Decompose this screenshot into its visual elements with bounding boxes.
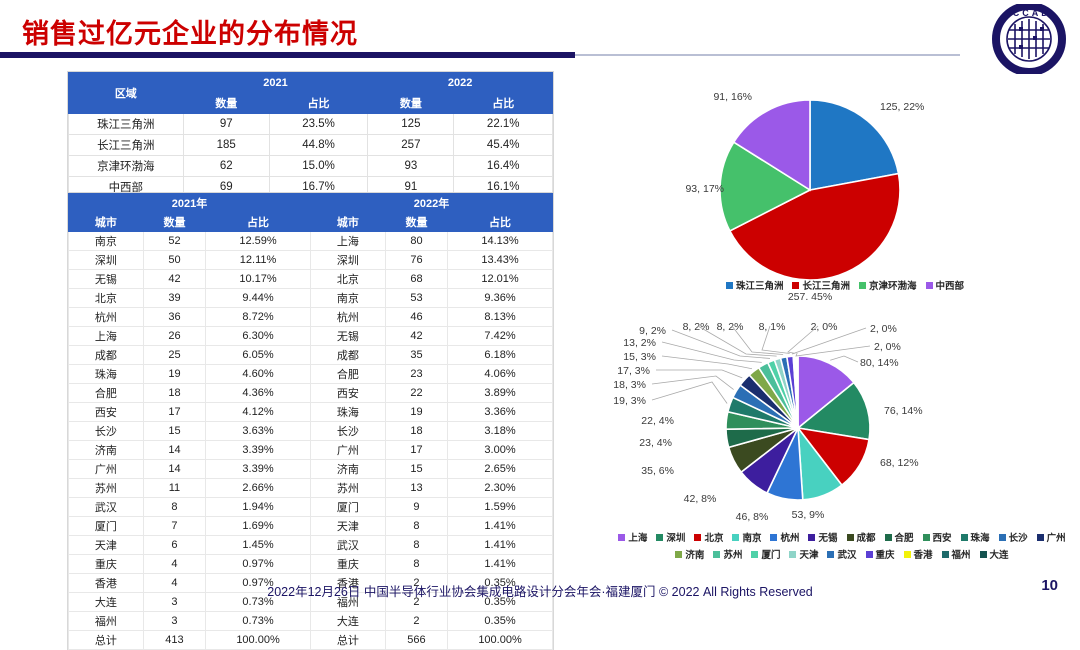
cell-share-2022: 6.18%	[448, 346, 553, 365]
cell-city-2021: 天津	[69, 536, 144, 555]
cell-share-2021: 3.39%	[206, 441, 311, 460]
cell-city-2022: 上海	[310, 232, 385, 251]
legend-label: 济南	[685, 547, 704, 561]
cell-count-2021: 39	[143, 289, 205, 308]
cell-p2022: 16.4%	[454, 156, 553, 177]
legend-swatch-icon	[866, 551, 873, 558]
legend-swatch-icon	[961, 534, 968, 541]
cell-region: 珠江三角洲	[69, 114, 184, 135]
region-sub-count-2021: 数量	[183, 93, 269, 114]
title-rule	[0, 52, 575, 58]
cell-share-2021: 0.73%	[206, 612, 311, 631]
cell-region: 长江三角洲	[69, 135, 184, 156]
pie-data-label: 68, 12%	[880, 457, 919, 469]
cell-n2022: 93	[368, 156, 454, 177]
legend-swatch-icon	[732, 534, 739, 541]
cell-count-2021: 18	[143, 384, 205, 403]
legend-item[interactable]: 成都	[847, 530, 876, 544]
cell-count-2022: 76	[385, 251, 447, 270]
legend-label: 成都	[857, 530, 876, 544]
cell-share-2021: 100.00%	[206, 631, 311, 650]
cell-city-2021: 广州	[69, 460, 144, 479]
legend-item[interactable]: 西安	[923, 530, 952, 544]
cell-p2021: 15.0%	[269, 156, 368, 177]
cell-city-2022: 苏州	[310, 479, 385, 498]
cell-share-2021: 12.59%	[206, 232, 311, 251]
legend-label: 无锡	[818, 530, 837, 544]
legend-swatch-icon	[999, 534, 1006, 541]
cell-share-2022: 3.00%	[448, 441, 553, 460]
cell-city-2022: 深圳	[310, 251, 385, 270]
cell-city-2021: 长沙	[69, 422, 144, 441]
pie-label-leader	[796, 346, 870, 356]
legend-label: 珠江三角洲	[736, 278, 784, 292]
pie-data-label: 53, 9%	[792, 509, 825, 521]
cell-share-2021: 0.97%	[206, 555, 311, 574]
legend-item[interactable]: 北京	[694, 530, 723, 544]
page-title: 销售过亿元企业的分布情况	[22, 12, 358, 51]
table-row: 无锡4210.17%北京6812.01%	[69, 270, 553, 289]
city-col-city-2021: 城市	[69, 213, 144, 232]
legend-item[interactable]: 上海	[618, 530, 647, 544]
pie-data-label: 9, 2%	[639, 325, 666, 337]
legend-swatch-icon	[942, 551, 949, 558]
legend-item[interactable]: 深圳	[656, 530, 685, 544]
legend-item[interactable]: 厦门	[751, 547, 780, 561]
cell-share-2021: 10.17%	[206, 270, 311, 289]
legend-item[interactable]: 中西部	[926, 278, 965, 292]
legend-item[interactable]: 长江三角洲	[792, 278, 850, 292]
table-row: 西安174.12%珠海193.36%	[69, 403, 553, 422]
pie-data-label: 19, 3%	[613, 395, 646, 407]
legend-swatch-icon	[726, 282, 733, 289]
cell-city-2021: 北京	[69, 289, 144, 308]
cell-share-2022: 100.00%	[448, 631, 553, 650]
cell-n2022: 125	[368, 114, 454, 135]
table-row: 上海266.30%无锡427.42%	[69, 327, 553, 346]
cell-city-2021: 南京	[69, 232, 144, 251]
table-row: 广州143.39%济南152.65%	[69, 460, 553, 479]
region-header-2022: 2022	[368, 73, 553, 93]
legend-swatch-icon	[859, 282, 866, 289]
region-header-2021: 2021	[183, 73, 368, 93]
logo-text: ICCAD	[1007, 8, 1051, 18]
cell-count-2021: 36	[143, 308, 205, 327]
legend-swatch-icon	[885, 534, 892, 541]
cell-city-2022: 大连	[310, 612, 385, 631]
legend-item[interactable]: 长沙	[999, 530, 1028, 544]
city-pie-chart: 80, 14%76, 14%68, 12%53, 9%46, 8%42, 8%3…	[612, 318, 1074, 534]
legend-item[interactable]: 珠江三角洲	[726, 278, 784, 292]
cell-count-2022: 15	[385, 460, 447, 479]
legend-item[interactable]: 武汉	[827, 547, 856, 561]
legend-label: 天津	[799, 547, 818, 561]
cell-p2022: 22.1%	[454, 114, 553, 135]
legend-label: 福州	[952, 547, 971, 561]
cell-count-2022: 17	[385, 441, 447, 460]
legend-label: 苏州	[723, 547, 742, 561]
legend-swatch-icon	[792, 282, 799, 289]
table-row: 长江三角洲18544.8%25745.4%	[69, 135, 553, 156]
cell-city-2022: 济南	[310, 460, 385, 479]
cell-count-2022: 42	[385, 327, 447, 346]
cell-p2021: 44.8%	[269, 135, 368, 156]
cell-count-2021: 7	[143, 517, 205, 536]
legend-label: 上海	[628, 530, 647, 544]
cell-share-2021: 8.72%	[206, 308, 311, 327]
legend-item[interactable]: 天津	[789, 547, 818, 561]
cell-count-2022: 68	[385, 270, 447, 289]
region-sub-share-2021: 占比	[269, 93, 368, 114]
table-row: 重庆40.97%重庆81.41%	[69, 555, 553, 574]
legend-label: 中西部	[936, 278, 965, 292]
page-number: 10	[1041, 577, 1058, 594]
cell-city-2022: 杭州	[310, 308, 385, 327]
city-col-share-2021: 占比	[206, 213, 311, 232]
legend-swatch-icon	[808, 534, 815, 541]
cell-n2021: 62	[183, 156, 269, 177]
cell-p2022: 45.4%	[454, 135, 553, 156]
cell-city-2021: 厦门	[69, 517, 144, 536]
pie-data-label: 8, 2%	[683, 321, 710, 333]
city-pie-legend: 上海深圳北京南京杭州无锡成都合肥西安珠海长沙广州济南苏州厦门天津武汉重庆香港福州…	[614, 530, 1070, 561]
table-row: 苏州112.66%苏州132.30%	[69, 479, 553, 498]
city-col-count-2021: 数量	[143, 213, 205, 232]
pie-data-label: 42, 8%	[684, 493, 717, 505]
cell-count-2022: 2	[385, 612, 447, 631]
cell-share-2022: 2.30%	[448, 479, 553, 498]
cell-share-2022: 2.65%	[448, 460, 553, 479]
legend-item[interactable]: 苏州	[713, 547, 742, 561]
cell-share-2022: 3.36%	[448, 403, 553, 422]
cell-count-2021: 14	[143, 460, 205, 479]
cell-count-2022: 8	[385, 536, 447, 555]
cell-city-2021: 总计	[69, 631, 144, 650]
legend-label: 大连	[990, 547, 1009, 561]
cell-count-2022: 35	[385, 346, 447, 365]
legend-swatch-icon	[926, 282, 933, 289]
table-row: 珠海194.60%合肥234.06%	[69, 365, 553, 384]
cell-share-2022: 3.18%	[448, 422, 553, 441]
legend-item[interactable]: 合肥	[885, 530, 914, 544]
cell-count-2022: 23	[385, 365, 447, 384]
cell-count-2021: 25	[143, 346, 205, 365]
pie-data-label: 2, 0%	[874, 341, 901, 353]
legend-label: 杭州	[780, 530, 799, 544]
pie-label-leader	[656, 370, 742, 378]
cell-count-2022: 8	[385, 517, 447, 536]
cell-p2021: 23.5%	[269, 114, 368, 135]
cell-city-2022: 无锡	[310, 327, 385, 346]
pie-data-label: 91, 16%	[713, 91, 752, 103]
legend-label: 合肥	[895, 530, 914, 544]
legend-swatch-icon	[789, 551, 796, 558]
cell-city-2022: 北京	[310, 270, 385, 289]
cell-city-2021: 深圳	[69, 251, 144, 270]
cell-count-2021: 3	[143, 612, 205, 631]
cell-count-2022: 566	[385, 631, 447, 650]
cell-share-2021: 6.30%	[206, 327, 311, 346]
cell-n2022: 257	[368, 135, 454, 156]
legend-item[interactable]: 大连	[980, 547, 1009, 561]
cell-share-2021: 2.66%	[206, 479, 311, 498]
cell-city-2021: 合肥	[69, 384, 144, 403]
cell-city-2022: 合肥	[310, 365, 385, 384]
cell-city-2022: 武汉	[310, 536, 385, 555]
table-row: 合肥184.36%西安223.89%	[69, 384, 553, 403]
legend-item[interactable]: 济南	[675, 547, 704, 561]
pie-data-label: 18, 3%	[613, 379, 646, 391]
footer-text: 2022年12月26日 中国半导体行业协会集成电路设计分会年会·福建厦门 © 2…	[0, 581, 1080, 600]
cell-n2021: 97	[183, 114, 269, 135]
pie-data-label: 2, 0%	[870, 323, 897, 335]
cell-count-2021: 4	[143, 555, 205, 574]
pie-data-label: 8, 2%	[717, 321, 744, 333]
legend-swatch-icon	[675, 551, 682, 558]
region-sub-share-2022: 占比	[454, 93, 553, 114]
cell-share-2021: 4.60%	[206, 365, 311, 384]
table-row: 武汉81.94%厦门91.59%	[69, 498, 553, 517]
pie-data-label: 46, 8%	[736, 511, 769, 523]
legend-item[interactable]: 重庆	[866, 547, 895, 561]
title-rule-thin	[575, 54, 960, 56]
legend-label: 长沙	[1009, 530, 1028, 544]
legend-swatch-icon	[980, 551, 987, 558]
pie-data-label: 17, 3%	[617, 365, 650, 377]
cell-count-2022: 22	[385, 384, 447, 403]
cell-city-2021: 苏州	[69, 479, 144, 498]
legend-label: 厦门	[761, 547, 780, 561]
cell-city-2022: 长沙	[310, 422, 385, 441]
cell-count-2021: 19	[143, 365, 205, 384]
cell-share-2022: 1.41%	[448, 555, 553, 574]
pie-data-label: 93, 17%	[685, 183, 724, 195]
table-row: 杭州368.72%杭州468.13%	[69, 308, 553, 327]
legend-swatch-icon	[618, 534, 625, 541]
legend-item[interactable]: 广州	[1037, 530, 1066, 544]
city-col-city-2022: 城市	[310, 213, 385, 232]
table-row: 长沙153.63%长沙183.18%	[69, 422, 553, 441]
cell-city-2021: 珠海	[69, 365, 144, 384]
cell-count-2021: 11	[143, 479, 205, 498]
legend-item[interactable]: 南京	[732, 530, 761, 544]
pie-data-label: 22, 4%	[641, 415, 674, 427]
cell-city-2021: 福州	[69, 612, 144, 631]
cell-count-2022: 80	[385, 232, 447, 251]
city-col-share-2022: 占比	[448, 213, 553, 232]
cell-city-2022: 西安	[310, 384, 385, 403]
table-row: 深圳5012.11%深圳7613.43%	[69, 251, 553, 270]
cell-share-2021: 1.94%	[206, 498, 311, 517]
cell-share-2021: 6.05%	[206, 346, 311, 365]
cell-count-2021: 42	[143, 270, 205, 289]
legend-swatch-icon	[751, 551, 758, 558]
legend-label: 北京	[704, 530, 723, 544]
legend-label: 长江三角洲	[802, 278, 850, 292]
cell-share-2022: 14.13%	[448, 232, 553, 251]
cell-share-2022: 1.41%	[448, 536, 553, 555]
cell-share-2022: 1.41%	[448, 517, 553, 536]
cell-city-2021: 重庆	[69, 555, 144, 574]
cell-count-2021: 26	[143, 327, 205, 346]
legend-label: 珠海	[971, 530, 990, 544]
table-row: 北京399.44%南京539.36%	[69, 289, 553, 308]
cell-count-2022: 8	[385, 555, 447, 574]
cell-city-2022: 厦门	[310, 498, 385, 517]
cell-share-2021: 1.45%	[206, 536, 311, 555]
cell-city-2021: 上海	[69, 327, 144, 346]
cell-city-2022: 天津	[310, 517, 385, 536]
legend-label: 深圳	[666, 530, 685, 544]
cell-count-2022: 46	[385, 308, 447, 327]
slide: 销售过亿元企业的分布情况 ICCAD	[0, 0, 1080, 607]
cell-count-2021: 8	[143, 498, 205, 517]
cell-share-2021: 9.44%	[206, 289, 311, 308]
cell-share-2022: 13.43%	[448, 251, 553, 270]
legend-swatch-icon	[770, 534, 777, 541]
pie-data-label: 2, 0%	[811, 321, 838, 333]
cell-share-2021: 4.36%	[206, 384, 311, 403]
region-pie-legend: 珠江三角洲长江三角洲京津环渤海中西部	[620, 278, 1070, 292]
legend-swatch-icon	[847, 534, 854, 541]
pie-data-label: 15, 3%	[623, 351, 656, 363]
table-row: 天津61.45%武汉81.41%	[69, 536, 553, 555]
legend-swatch-icon	[713, 551, 720, 558]
cell-city-2022: 重庆	[310, 555, 385, 574]
region-sub-count-2022: 数量	[368, 93, 454, 114]
legend-item[interactable]: 无锡	[808, 530, 837, 544]
legend-swatch-icon	[694, 534, 701, 541]
cell-share-2022: 7.42%	[448, 327, 553, 346]
table-row: 福州30.73%大连20.35%	[69, 612, 553, 631]
legend-item[interactable]: 珠海	[961, 530, 990, 544]
cell-share-2022: 8.13%	[448, 308, 553, 327]
region-pie-chart: 125, 22%257, 45%93, 17%91, 16%	[612, 74, 1072, 300]
legend-label: 广州	[1047, 530, 1066, 544]
legend-label: 京津环渤海	[869, 278, 917, 292]
cell-share-2022: 9.36%	[448, 289, 553, 308]
city-col-count-2022: 数量	[385, 213, 447, 232]
table-row: 珠江三角洲9723.5%12522.1%	[69, 114, 553, 135]
cell-share-2022: 0.35%	[448, 612, 553, 631]
cell-city-2021: 武汉	[69, 498, 144, 517]
pie-label-leader	[672, 330, 770, 358]
pie-data-label: 8, 1%	[759, 321, 786, 333]
iccad-logo: ICCAD	[985, 4, 1073, 74]
cell-share-2022: 4.06%	[448, 365, 553, 384]
cell-city-2021: 成都	[69, 346, 144, 365]
table-row: 济南143.39%广州173.00%	[69, 441, 553, 460]
cell-region: 京津环渤海	[69, 156, 184, 177]
cell-city-2021: 济南	[69, 441, 144, 460]
cell-count-2021: 6	[143, 536, 205, 555]
cell-count-2021: 15	[143, 422, 205, 441]
cell-share-2022: 12.01%	[448, 270, 553, 289]
cell-city-2022: 成都	[310, 346, 385, 365]
cell-share-2021: 1.69%	[206, 517, 311, 536]
cell-share-2021: 12.11%	[206, 251, 311, 270]
cell-count-2022: 53	[385, 289, 447, 308]
cell-city-2022: 总计	[310, 631, 385, 650]
legend-swatch-icon	[904, 551, 911, 558]
cell-city-2022: 南京	[310, 289, 385, 308]
cell-count-2021: 413	[143, 631, 205, 650]
legend-item[interactable]: 杭州	[770, 530, 799, 544]
cell-share-2021: 4.12%	[206, 403, 311, 422]
legend-swatch-icon	[656, 534, 663, 541]
pie-label-leader	[788, 326, 818, 353]
cell-n2021: 185	[183, 135, 269, 156]
cell-count-2021: 14	[143, 441, 205, 460]
pie-label-leader	[652, 382, 727, 403]
cell-count-2022: 9	[385, 498, 447, 517]
pie-data-label: 76, 14%	[884, 405, 923, 417]
cell-count-2021: 17	[143, 403, 205, 422]
legend-label: 武汉	[837, 547, 856, 561]
cell-count-2021: 50	[143, 251, 205, 270]
table-row: 厦门71.69%天津81.41%	[69, 517, 553, 536]
pie-data-label: 257, 45%	[788, 291, 832, 300]
pie-data-label: 35, 6%	[641, 465, 674, 477]
cell-city-2022: 广州	[310, 441, 385, 460]
legend-item[interactable]: 福州	[942, 547, 971, 561]
legend-swatch-icon	[827, 551, 834, 558]
pie-data-label: 80, 14%	[860, 357, 899, 369]
table-row: 京津环渤海6215.0%9316.4%	[69, 156, 553, 177]
table-row: 成都256.05%成都356.18%	[69, 346, 553, 365]
legend-label: 西安	[933, 530, 952, 544]
city-header-2021: 2021年	[69, 194, 311, 213]
cell-city-2021: 无锡	[69, 270, 144, 289]
cell-city-2021: 杭州	[69, 308, 144, 327]
city-header-2022: 2022年	[310, 194, 552, 213]
legend-label: 南京	[742, 530, 761, 544]
cell-city-2022: 珠海	[310, 403, 385, 422]
pie-label-leader	[830, 356, 858, 362]
cell-count-2022: 13	[385, 479, 447, 498]
table-row: 南京5212.59%上海8014.13%	[69, 232, 553, 251]
legend-item[interactable]: 香港	[904, 547, 933, 561]
legend-swatch-icon	[1037, 534, 1044, 541]
pie-data-label: 23, 4%	[639, 437, 672, 449]
pie-data-label: 125, 22%	[880, 101, 924, 113]
cell-share-2021: 3.39%	[206, 460, 311, 479]
legend-swatch-icon	[923, 534, 930, 541]
region-col-header: 区域	[69, 73, 184, 114]
pie-label-leader	[662, 356, 752, 369]
cell-share-2022: 3.89%	[448, 384, 553, 403]
table-row: 总计413100.00%总计566100.00%	[69, 631, 553, 650]
cell-share-2022: 1.59%	[448, 498, 553, 517]
cell-count-2021: 52	[143, 232, 205, 251]
legend-item[interactable]: 京津环渤海	[859, 278, 917, 292]
cell-city-2021: 西安	[69, 403, 144, 422]
legend-label: 重庆	[876, 547, 895, 561]
legend-label: 香港	[914, 547, 933, 561]
cell-count-2022: 18	[385, 422, 447, 441]
cell-share-2021: 3.63%	[206, 422, 311, 441]
cell-count-2022: 19	[385, 403, 447, 422]
pie-data-label: 13, 2%	[623, 337, 656, 349]
